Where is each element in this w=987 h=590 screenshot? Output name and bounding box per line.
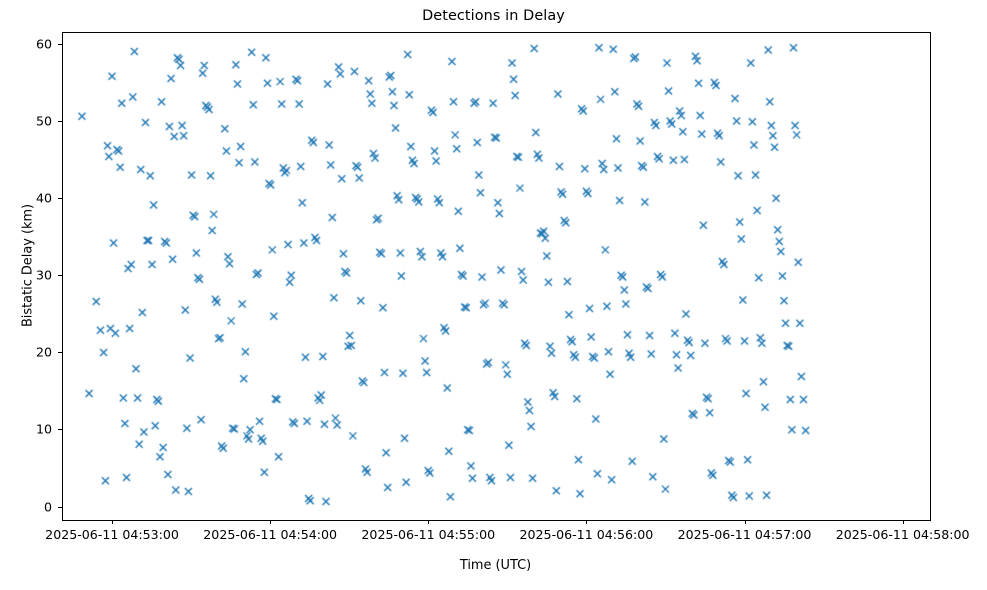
scatter-plot-canvas	[63, 33, 930, 520]
x-tick-mark	[270, 520, 271, 524]
y-tick-mark	[58, 352, 62, 353]
x-tick-mark	[903, 520, 904, 524]
x-tick-label: 2025-06-11 04:58:00	[836, 527, 970, 542]
x-tick-label: 2025-06-11 04:57:00	[678, 527, 812, 542]
x-axis-label: Time (UTC)	[62, 558, 929, 573]
x-tick-label: 2025-06-11 04:54:00	[203, 527, 337, 542]
x-tick-label: 2025-06-11 04:53:00	[45, 527, 179, 542]
y-tick-mark	[58, 198, 62, 199]
x-tick-label: 2025-06-11 04:56:00	[520, 527, 654, 542]
plot-axes	[62, 32, 931, 521]
matplotlib-figure: Detections in Delay 2025-06-11 04:53:002…	[0, 0, 987, 590]
x-tick-label: 2025-06-11 04:55:00	[361, 527, 495, 542]
y-tick-mark	[58, 429, 62, 430]
y-axis-label: Bistatic Delay (km)	[21, 6, 36, 526]
x-tick-mark	[112, 520, 113, 524]
x-tick-mark	[428, 520, 429, 524]
y-tick-mark	[58, 507, 62, 508]
y-tick-mark	[58, 44, 62, 45]
x-tick-mark	[586, 520, 587, 524]
y-tick-mark	[58, 275, 62, 276]
y-tick-mark	[58, 121, 62, 122]
x-tick-mark	[745, 520, 746, 524]
page-title: Detections in Delay	[0, 8, 987, 24]
